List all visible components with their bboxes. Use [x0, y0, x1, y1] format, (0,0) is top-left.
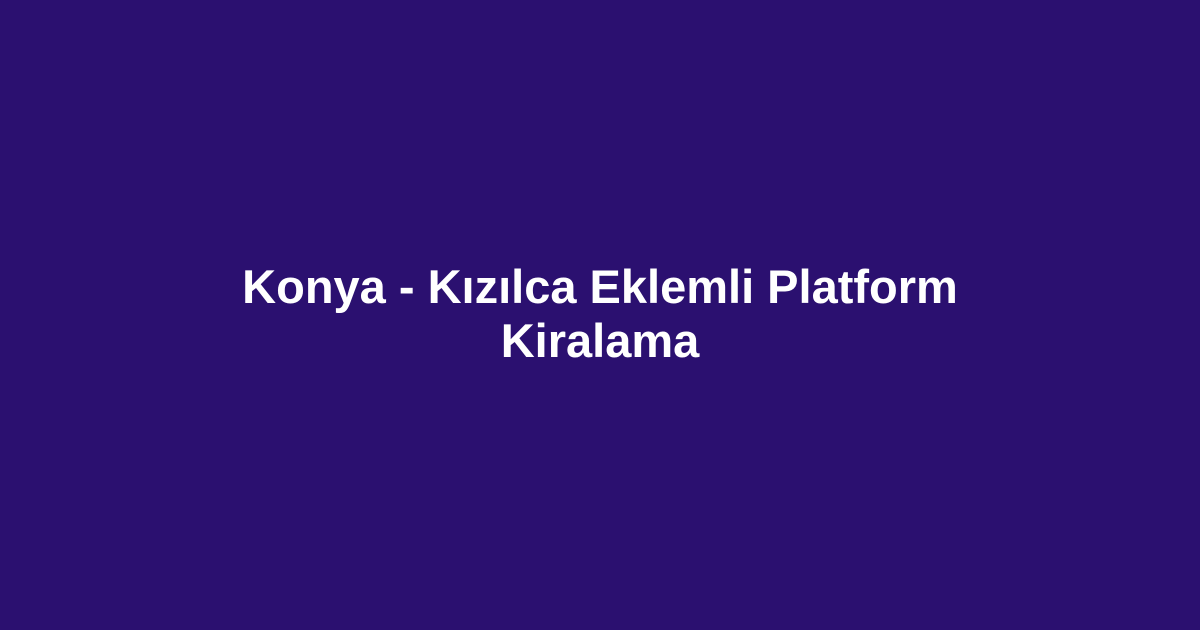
page-title: Konya - Kızılca Eklemli Platform Kiralam…: [170, 260, 1030, 368]
card-content: Konya - Kızılca Eklemli Platform Kiralam…: [0, 260, 1200, 370]
social-share-card: Konya - Kızılca Eklemli Platform Kiralam…: [0, 0, 1200, 630]
